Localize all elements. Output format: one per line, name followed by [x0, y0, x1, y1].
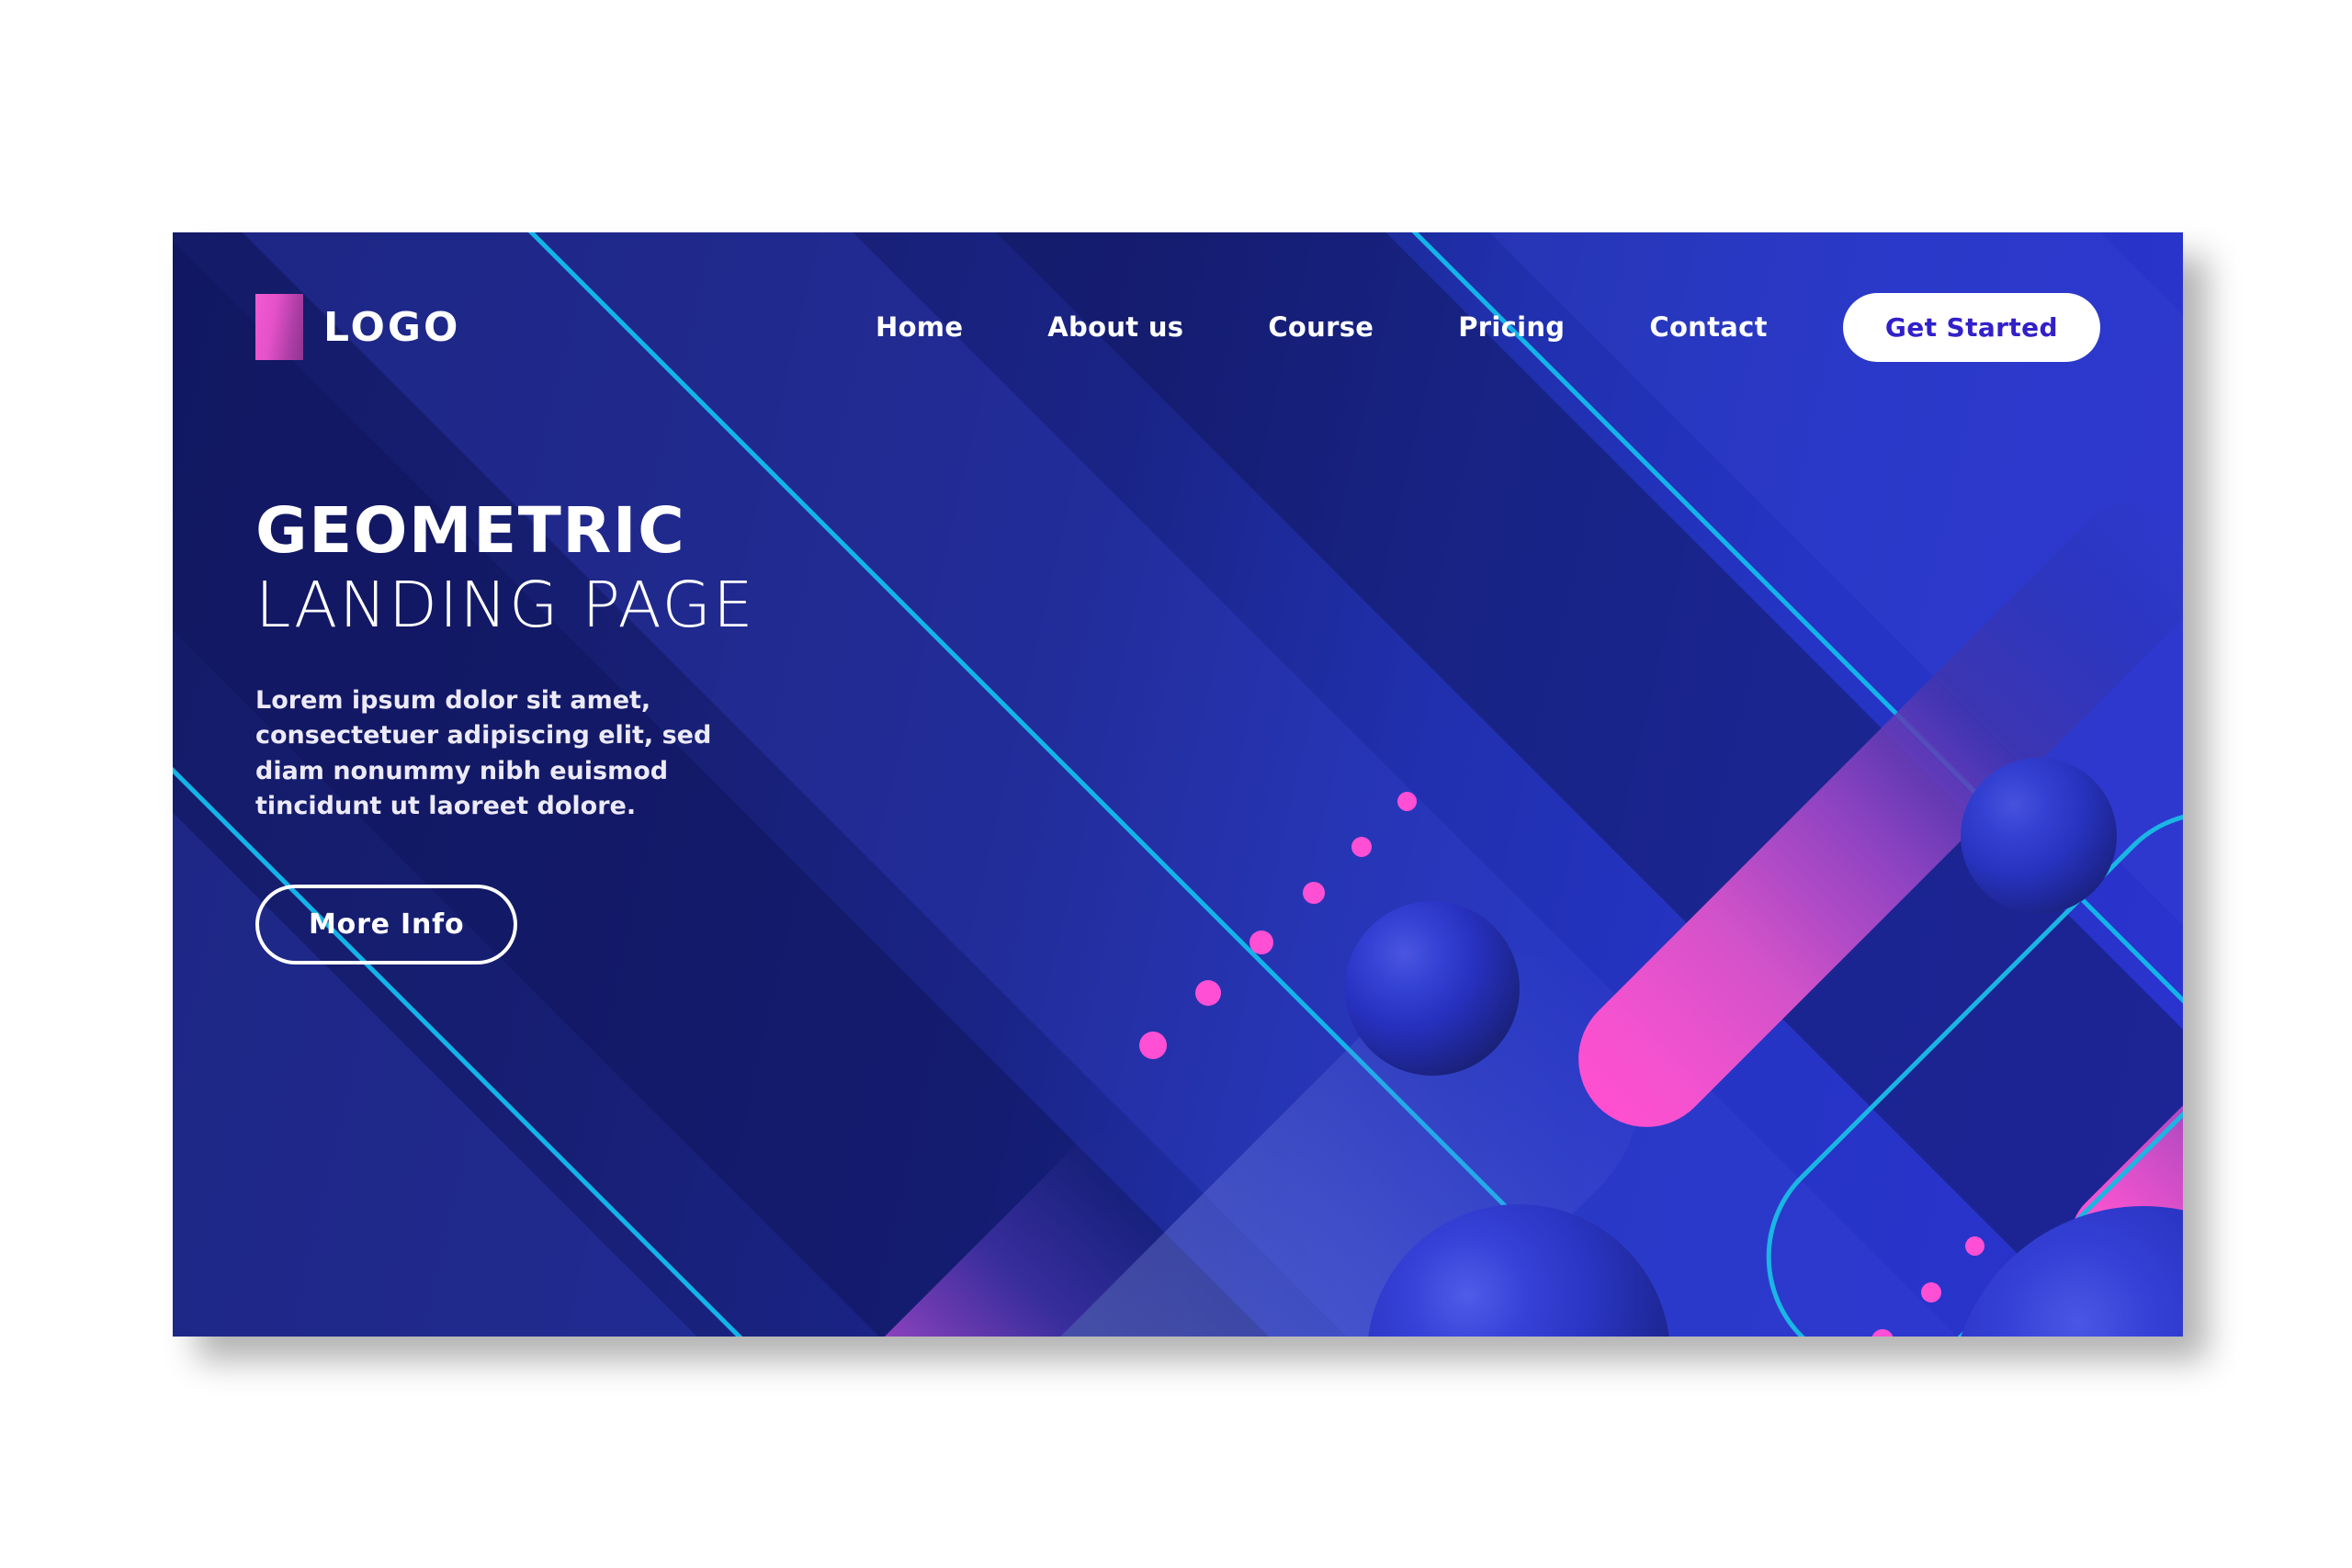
- sphere-medium-top-right: [1961, 758, 2117, 914]
- pink-dot-5: [1397, 792, 1417, 811]
- pink-dot-4: [1351, 837, 1372, 857]
- primary-nav: Home About us Course Pricing Contact: [833, 311, 1810, 343]
- nav-item-pricing[interactable]: Pricing: [1416, 311, 1607, 343]
- hero-card: LOGO Home About us Course Pricing Contac…: [173, 232, 2183, 1337]
- pink-dot-2: [1249, 931, 1273, 954]
- nav-item-about-us[interactable]: About us: [1005, 311, 1226, 343]
- more-info-button[interactable]: More Info: [255, 885, 517, 964]
- navbar: LOGO Home About us Course Pricing Contac…: [173, 286, 2183, 368]
- nav-item-course[interactable]: Course: [1226, 311, 1416, 343]
- page-root: LOGO Home About us Course Pricing Contac…: [0, 0, 2352, 1568]
- hero-copy: GEOMETRIC LANDING PAGE Lorem ipsum dolor…: [255, 499, 935, 964]
- pink-dot-0: [1139, 1032, 1167, 1059]
- hero-paragraph: Lorem ipsum dolor sit amet, consectetuer…: [255, 683, 733, 824]
- pink-dot-1: [1195, 980, 1221, 1006]
- hero-title-line-1: GEOMETRIC: [255, 499, 935, 565]
- nav-item-home[interactable]: Home: [833, 311, 1005, 343]
- logo-mark-icon: [255, 294, 303, 360]
- hero-title-line-2: LANDING PAGE: [255, 569, 935, 643]
- sphere-small-upper-left: [1345, 901, 1520, 1076]
- get-started-button[interactable]: Get Started: [1843, 293, 2100, 362]
- pink-dot-5: [1965, 1236, 1984, 1256]
- brand-name: LOGO: [323, 304, 460, 351]
- nav-item-contact[interactable]: Contact: [1607, 311, 1809, 343]
- pink-dot-3: [1303, 882, 1325, 904]
- brand-logo[interactable]: LOGO: [255, 294, 460, 360]
- pink-dot-4: [1921, 1282, 1941, 1303]
